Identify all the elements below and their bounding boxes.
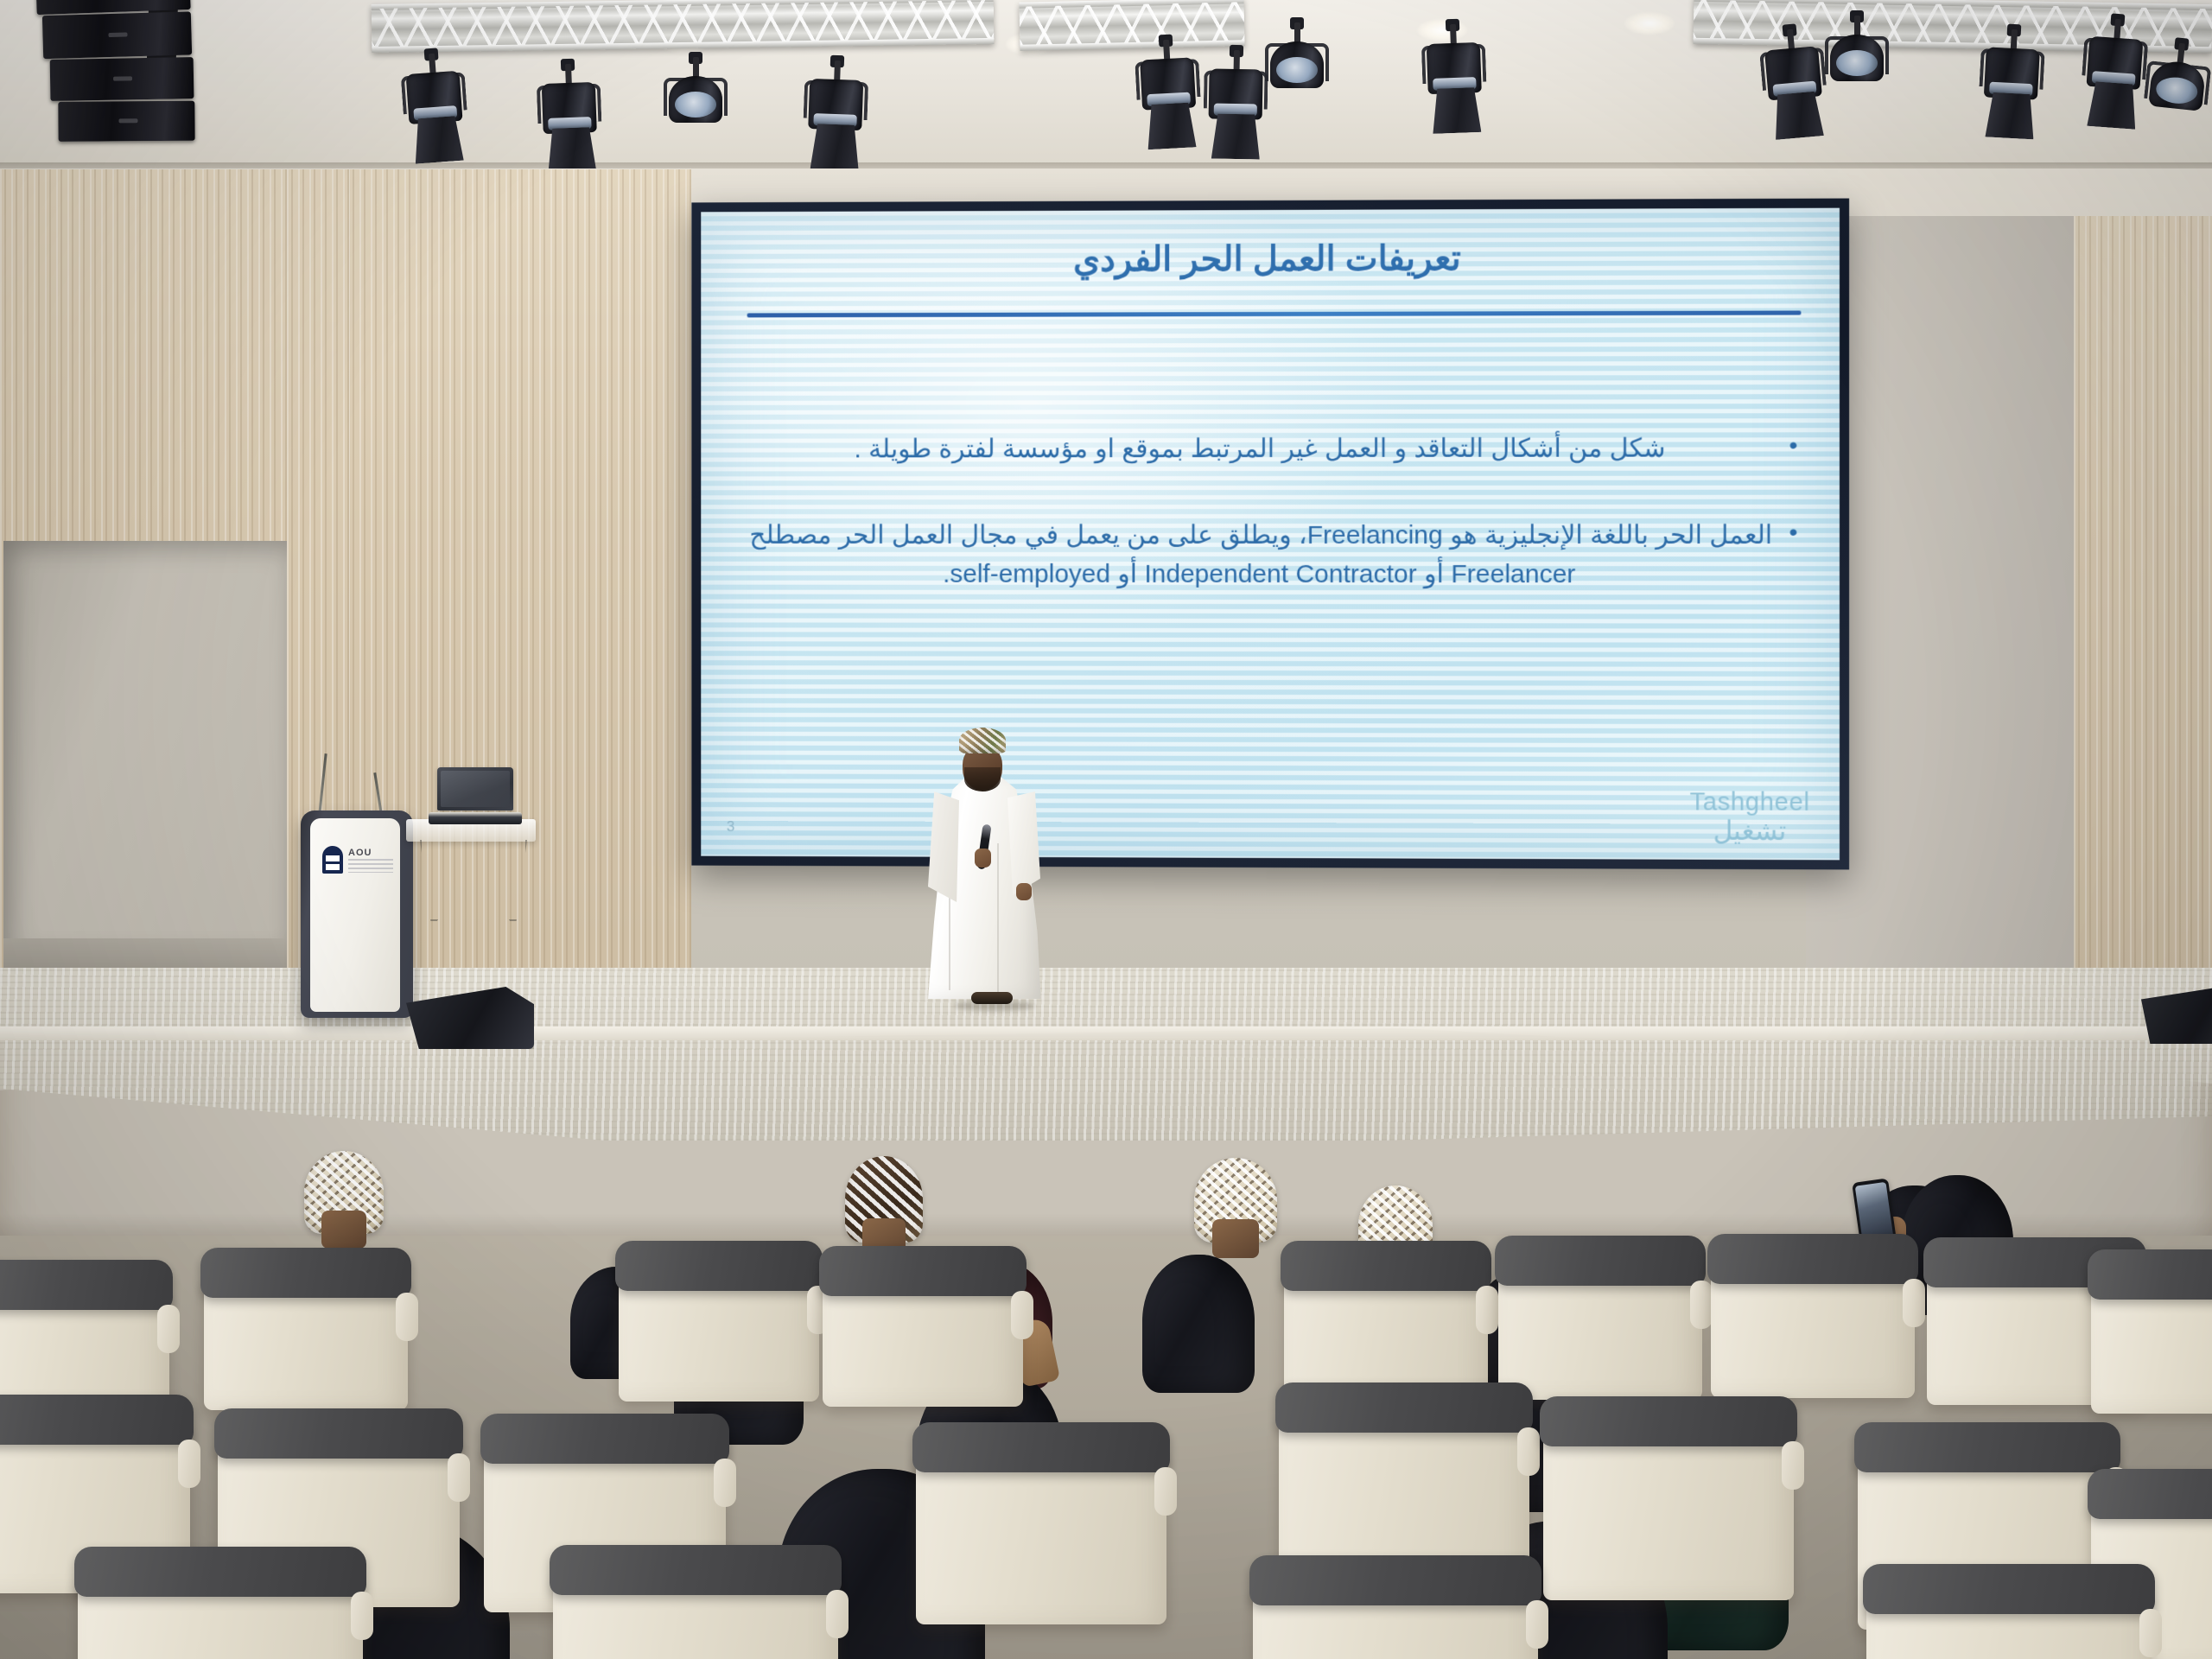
presenter-hand-left (975, 849, 991, 868)
seat-armrest (396, 1293, 418, 1341)
thobe-fold-2 (997, 843, 999, 992)
seat-headrest (1707, 1234, 1918, 1284)
par-can-icon (1830, 16, 1884, 128)
seat-armrest (1526, 1600, 1548, 1649)
presenter (914, 722, 1052, 1007)
audience-seat (916, 1422, 1166, 1624)
light-barn-door (1146, 102, 1197, 149)
presenter-beard (964, 767, 1001, 791)
glass-side-table (406, 793, 536, 923)
audience-neck (321, 1211, 366, 1249)
slide-page-number: 3 (727, 818, 734, 836)
light-barn-door (547, 127, 597, 174)
light-lens (2155, 75, 2199, 105)
seat-headrest (0, 1260, 173, 1310)
light-barn-door (412, 116, 463, 164)
stage-light-icon (1981, 28, 2041, 143)
presenter-hand-right (1016, 883, 1032, 900)
seat-headrest (819, 1246, 1027, 1296)
seat-headrest (550, 1545, 842, 1595)
laptop-base (429, 812, 522, 824)
seat-armrest (1903, 1279, 1925, 1327)
light-lens (1836, 50, 1878, 76)
seat-armrest (1154, 1467, 1177, 1516)
auditorium-photo: تعريفات العمل الحر الفردي شكل من أشكال ا… (0, 0, 2212, 1659)
audience-seat (1866, 1564, 2152, 1659)
slide-bullet-1: شكل من أشكال التعاقد و العمل غير المرتبط… (746, 429, 1798, 469)
seat-armrest (448, 1453, 470, 1502)
audience-member-kumma (1194, 1158, 1277, 1243)
audience-seat (204, 1248, 408, 1410)
seat-headrest (2088, 1249, 2212, 1300)
audience-member-hijab (1142, 1255, 1255, 1393)
seat-headrest (74, 1547, 366, 1597)
audience-seat (823, 1246, 1023, 1407)
aou-wordmark: AOU (348, 848, 372, 858)
light-barn-door (1985, 92, 2036, 139)
stage-light-icon (1208, 49, 1263, 162)
seat-headrest (200, 1248, 411, 1298)
light-body (1270, 41, 1324, 88)
tashgheel-logo: Tashgheel تشغيل (1690, 790, 1810, 844)
light-body (1140, 57, 1196, 110)
stage-light-icon (541, 63, 598, 177)
light-body (2086, 36, 2143, 90)
podium-front-face: AOU (310, 818, 400, 1012)
stage-light-icon (806, 60, 863, 174)
wall-alcove (3, 541, 289, 954)
seat-armrest (1476, 1286, 1498, 1334)
slide-title: تعريفات العمل الحر الفردي (701, 238, 1840, 281)
audience-seat (553, 1545, 838, 1659)
seat-armrest (714, 1459, 736, 1507)
seat-armrest (826, 1590, 849, 1638)
light-barn-door (1772, 91, 1824, 140)
light-body (542, 82, 597, 134)
presenter-arm-right (1007, 791, 1040, 895)
audience-seat (1498, 1236, 1702, 1400)
seat-headrest (1540, 1396, 1797, 1446)
audience-seat (1543, 1396, 1794, 1600)
tashgheel-logo-arabic: تشغيل (1690, 817, 1810, 845)
wood-wall-panel-right (2074, 216, 2212, 976)
seat-armrest (1011, 1291, 1033, 1339)
seat-headrest (2088, 1469, 2212, 1519)
par-can-icon (669, 57, 722, 169)
audience-seat (78, 1547, 363, 1659)
omani-kumma-cap-icon (959, 728, 1006, 753)
stage-light-icon (2083, 17, 2145, 133)
aou-logo-subtext (348, 859, 393, 873)
light-body (1209, 68, 1263, 119)
seat-headrest (214, 1408, 463, 1459)
glass-table-legs (420, 840, 527, 921)
seat-headrest (0, 1395, 194, 1445)
seat-armrest (178, 1440, 200, 1488)
seat-headrest (1275, 1382, 1533, 1433)
line-array-speaker-icon (35, 0, 204, 171)
seat-headrest (1249, 1555, 1541, 1605)
seat-headrest (1863, 1564, 2155, 1614)
seat-headrest (912, 1422, 1170, 1472)
hijab (1142, 1255, 1255, 1393)
seat-armrest (351, 1592, 373, 1640)
audience-seat (2091, 1249, 2212, 1414)
light-body (808, 79, 863, 130)
light-body (1984, 47, 2040, 99)
seat-headrest (1854, 1422, 2120, 1472)
light-body (1830, 35, 1884, 81)
audience-seat (1711, 1234, 1915, 1398)
audience-member-kumma (304, 1151, 384, 1234)
truss-icon (372, 0, 995, 53)
audience-seat (1284, 1241, 1488, 1405)
slide-bullet-2: العمل الحر باللغة الإنجليزية هو Freelanc… (746, 515, 1798, 594)
slide-surface: تعريفات العمل الحر الفردي شكل من أشكال ا… (701, 208, 1840, 861)
truss-icon (1019, 0, 1244, 51)
tashgheel-logo-latin: Tashgheel (1690, 790, 1810, 816)
light-barn-door (1432, 87, 1482, 134)
light-lens (1276, 57, 1318, 83)
par-can-icon (1270, 22, 1324, 135)
seat-armrest (1782, 1441, 1804, 1490)
arch-icon (322, 846, 343, 874)
recessed-ceiling-light-icon (1624, 12, 1675, 35)
seat-armrest (1690, 1281, 1713, 1329)
stage-light-icon (1139, 38, 1198, 153)
stage-light-icon (1763, 27, 1826, 143)
presenter-sandals (971, 992, 1013, 1004)
presenter-arm-left (928, 791, 959, 902)
audience-neck (1212, 1219, 1259, 1258)
audience-seat (1253, 1555, 1538, 1659)
seat-armrest (2139, 1609, 2162, 1657)
projection-screen-icon: تعريفات العمل الحر الفردي شكل من أشكال ا… (691, 199, 1849, 870)
slide-title-rule (747, 310, 1802, 317)
light-barn-door (810, 124, 861, 170)
audience-seat (619, 1241, 819, 1402)
light-body (1427, 42, 1482, 94)
laptop-icon (437, 767, 513, 810)
light-body (669, 76, 722, 123)
seat-headrest (1495, 1236, 1706, 1286)
light-lens (675, 92, 716, 118)
stage-light-icon (1426, 23, 1483, 137)
seat-armrest (1517, 1427, 1540, 1476)
slide-body: شكل من أشكال التعاقد و العمل غير المرتبط… (746, 429, 1798, 641)
aou-logo: AOU (322, 846, 393, 875)
light-barn-door (2087, 81, 2138, 130)
seat-headrest (480, 1414, 729, 1464)
seat-headrest (615, 1241, 823, 1291)
audience-member-kumma (845, 1156, 923, 1243)
seat-headrest (1281, 1241, 1491, 1291)
podium: AOU (301, 810, 413, 1018)
light-barn-door (1211, 114, 1261, 160)
seat-armrest (157, 1305, 180, 1353)
stage-light-icon (404, 52, 466, 168)
